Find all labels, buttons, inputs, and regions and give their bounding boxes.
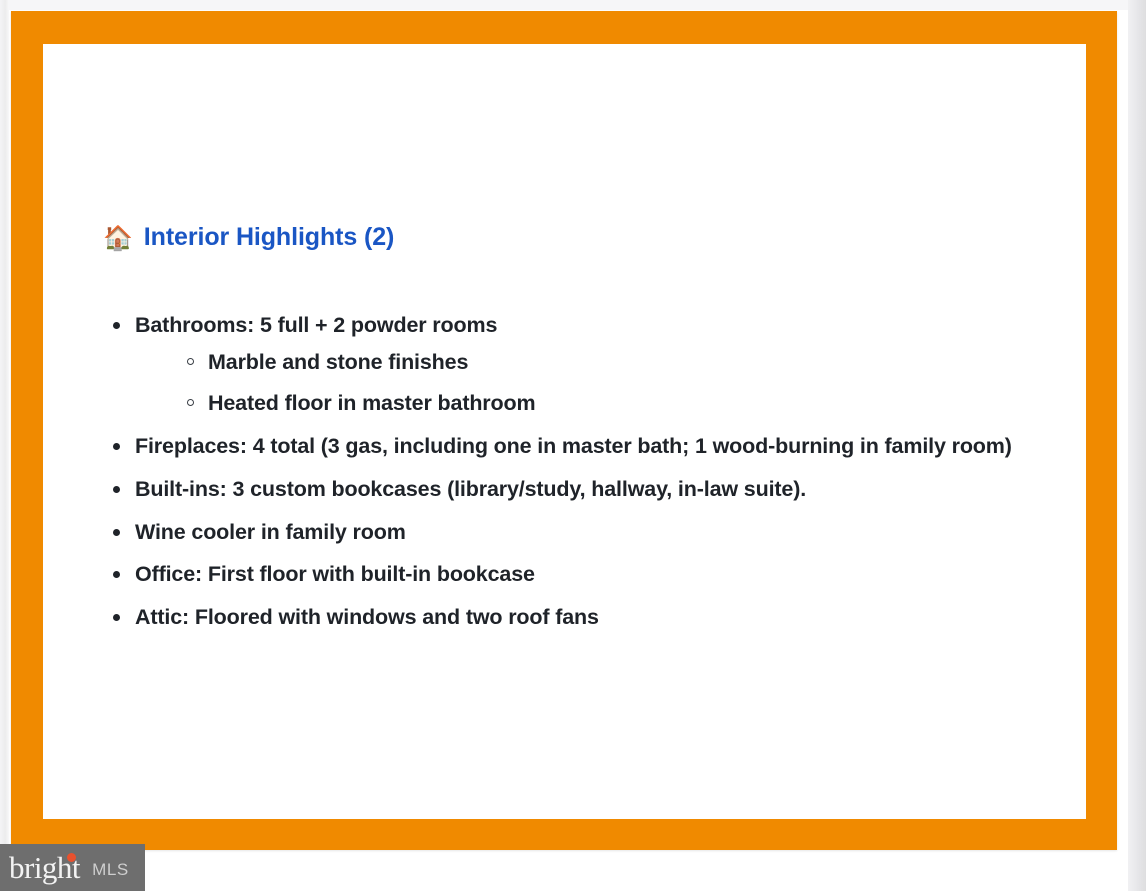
house-icon: 🏠 <box>103 227 133 251</box>
list-item: Office: First floor with built-in bookca… <box>103 557 1033 592</box>
sub-list-item-text: Marble and stone finishes <box>208 350 468 374</box>
list-item-text: Bathrooms: 5 full + 2 powder rooms <box>135 313 497 337</box>
list-item-text: Wine cooler in family room <box>135 520 406 544</box>
sub-list-item-text: Heated floor in master bathroom <box>208 391 535 415</box>
page-gutter-right <box>1128 0 1146 891</box>
page-title: 🏠 Interior Highlights (2) <box>103 224 1033 252</box>
page-gutter-left <box>0 0 9 856</box>
list-item-text: Attic: Floored with windows and two roof… <box>135 605 599 629</box>
list-item: Wine cooler in family room <box>103 515 1033 550</box>
list-item: Attic: Floored with windows and two roof… <box>103 600 1033 635</box>
list-item-text: Fireplaces: 4 total (3 gas, including on… <box>135 434 1012 458</box>
sub-list-item: Marble and stone finishes <box>187 345 1033 380</box>
page-top-strip <box>0 0 1128 10</box>
slide-canvas: 🏠 Interior Highlights (2) Bathrooms: 5 f… <box>43 44 1086 819</box>
list-item: Bathrooms: 5 full + 2 powder rooms Marbl… <box>103 308 1033 421</box>
watermark-suffix: MLS <box>92 861 129 878</box>
list-item-text: Office: First floor with built-in bookca… <box>135 562 535 586</box>
list-item: Fireplaces: 4 total (3 gas, including on… <box>103 429 1033 464</box>
slide-orange-frame: 🏠 Interior Highlights (2) Bathrooms: 5 f… <box>11 11 1117 850</box>
slide-content: 🏠 Interior Highlights (2) Bathrooms: 5 f… <box>103 224 1033 643</box>
watermark-dot-icon <box>67 853 76 862</box>
page-title-text: Interior Highlights (2) <box>144 224 394 252</box>
bright-mls-watermark: bright MLS <box>0 844 145 891</box>
watermark-brand: bright <box>9 852 80 883</box>
list-item: Built-ins: 3 custom bookcases (library/s… <box>103 472 1033 507</box>
sub-list-item: Heated floor in master bathroom <box>187 386 1033 421</box>
sub-list: Marble and stone finishes Heated floor i… <box>135 345 1033 421</box>
interior-highlights-list: Bathrooms: 5 full + 2 powder rooms Marbl… <box>103 308 1033 636</box>
list-item-text: Built-ins: 3 custom bookcases (library/s… <box>135 477 806 501</box>
